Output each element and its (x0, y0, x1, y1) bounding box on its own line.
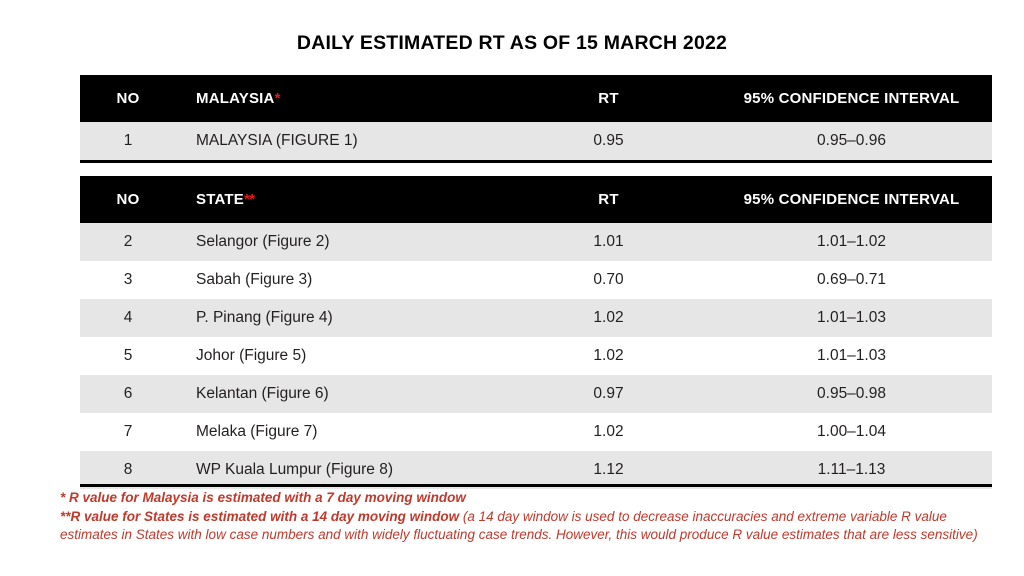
states-table-body: 2Selangor (Figure 2)1.011.01–1.023Sabah … (80, 223, 992, 489)
row-name: Kelantan (Figure 6) (176, 375, 506, 413)
column-header-confidence-interval: 95% CONFIDENCE INTERVAL (711, 75, 992, 122)
header-row: NO STATE** RT 95% CONFIDENCE INTERVAL (80, 176, 992, 223)
table-row: 5Johor (Figure 5)1.021.01–1.03 (80, 337, 992, 375)
footnote-states-bold: **R value for States is estimated with a… (60, 509, 459, 524)
page-title: DAILY ESTIMATED RT AS OF 15 MARCH 2022 (0, 32, 1024, 55)
row-number: 4 (80, 299, 176, 337)
states-table-header: NO STATE** RT 95% CONFIDENCE INTERVAL (80, 176, 992, 223)
states-table-bottom-rule (80, 484, 992, 487)
malaysia-table-body: 1 MALAYSIA (FIGURE 1) 0.95 0.95–0.96 (80, 122, 992, 160)
footnote-malaysia: * R value for Malaysia is estimated with… (60, 489, 990, 508)
row-name: Johor (Figure 5) (176, 337, 506, 375)
table-row: 1 MALAYSIA (FIGURE 1) 0.95 0.95–0.96 (80, 122, 992, 160)
row-name: Melaka (Figure 7) (176, 413, 506, 451)
table-row: 3Sabah (Figure 3)0.700.69–0.71 (80, 261, 992, 299)
footnotes: * R value for Malaysia is estimated with… (60, 489, 990, 545)
row-name: MALAYSIA (FIGURE 1) (176, 122, 506, 160)
column-header-state: STATE** (176, 176, 506, 223)
row-name: Sabah (Figure 3) (176, 261, 506, 299)
malaysia-table-header: NO MALAYSIA* RT 95% CONFIDENCE INTERVAL (80, 75, 992, 122)
column-header-malaysia-label: MALAYSIA (196, 90, 275, 107)
row-rt-value: 0.70 (506, 261, 711, 299)
row-number: 1 (80, 122, 176, 160)
malaysia-table-bottom-rule (80, 160, 992, 163)
table-row: 4P. Pinang (Figure 4)1.021.01–1.03 (80, 299, 992, 337)
row-number: 5 (80, 337, 176, 375)
row-name: Selangor (Figure 2) (176, 223, 506, 261)
row-confidence-interval: 1.01–1.03 (711, 299, 992, 337)
row-confidence-interval: 1.00–1.04 (711, 413, 992, 451)
row-number: 7 (80, 413, 176, 451)
column-header-rt: RT (506, 75, 711, 122)
states-table: NO STATE** RT 95% CONFIDENCE INTERVAL 2S… (80, 176, 992, 489)
table-row: 6Kelantan (Figure 6)0.970.95–0.98 (80, 375, 992, 413)
row-confidence-interval: 0.95–0.96 (711, 122, 992, 160)
states-table-container: NO STATE** RT 95% CONFIDENCE INTERVAL 2S… (80, 176, 992, 489)
table-row: 2Selangor (Figure 2)1.011.01–1.02 (80, 223, 992, 261)
footnote-marker-double-asterisk: ** (244, 191, 255, 208)
row-rt-value: 1.02 (506, 299, 711, 337)
malaysia-table: NO MALAYSIA* RT 95% CONFIDENCE INTERVAL … (80, 75, 992, 160)
row-rt-value: 1.02 (506, 337, 711, 375)
row-number: 2 (80, 223, 176, 261)
row-rt-value: 0.95 (506, 122, 711, 160)
table-row: 7Melaka (Figure 7)1.021.00–1.04 (80, 413, 992, 451)
row-confidence-interval: 0.95–0.98 (711, 375, 992, 413)
header-row: NO MALAYSIA* RT 95% CONFIDENCE INTERVAL (80, 75, 992, 122)
column-header-no: NO (80, 176, 176, 223)
row-rt-value: 0.97 (506, 375, 711, 413)
row-rt-value: 1.02 (506, 413, 711, 451)
row-number: 6 (80, 375, 176, 413)
row-confidence-interval: 1.01–1.03 (711, 337, 992, 375)
row-confidence-interval: 1.01–1.02 (711, 223, 992, 261)
column-header-no: NO (80, 75, 176, 122)
row-number: 3 (80, 261, 176, 299)
row-name: P. Pinang (Figure 4) (176, 299, 506, 337)
footnote-states: **R value for States is estimated with a… (60, 508, 990, 545)
column-header-state-label: STATE (196, 191, 244, 208)
column-header-rt: RT (506, 176, 711, 223)
malaysia-table-container: NO MALAYSIA* RT 95% CONFIDENCE INTERVAL … (80, 75, 992, 160)
column-header-malaysia: MALAYSIA* (176, 75, 506, 122)
row-rt-value: 1.01 (506, 223, 711, 261)
column-header-confidence-interval: 95% CONFIDENCE INTERVAL (711, 176, 992, 223)
footnote-marker-asterisk: * (275, 90, 280, 107)
row-confidence-interval: 0.69–0.71 (711, 261, 992, 299)
